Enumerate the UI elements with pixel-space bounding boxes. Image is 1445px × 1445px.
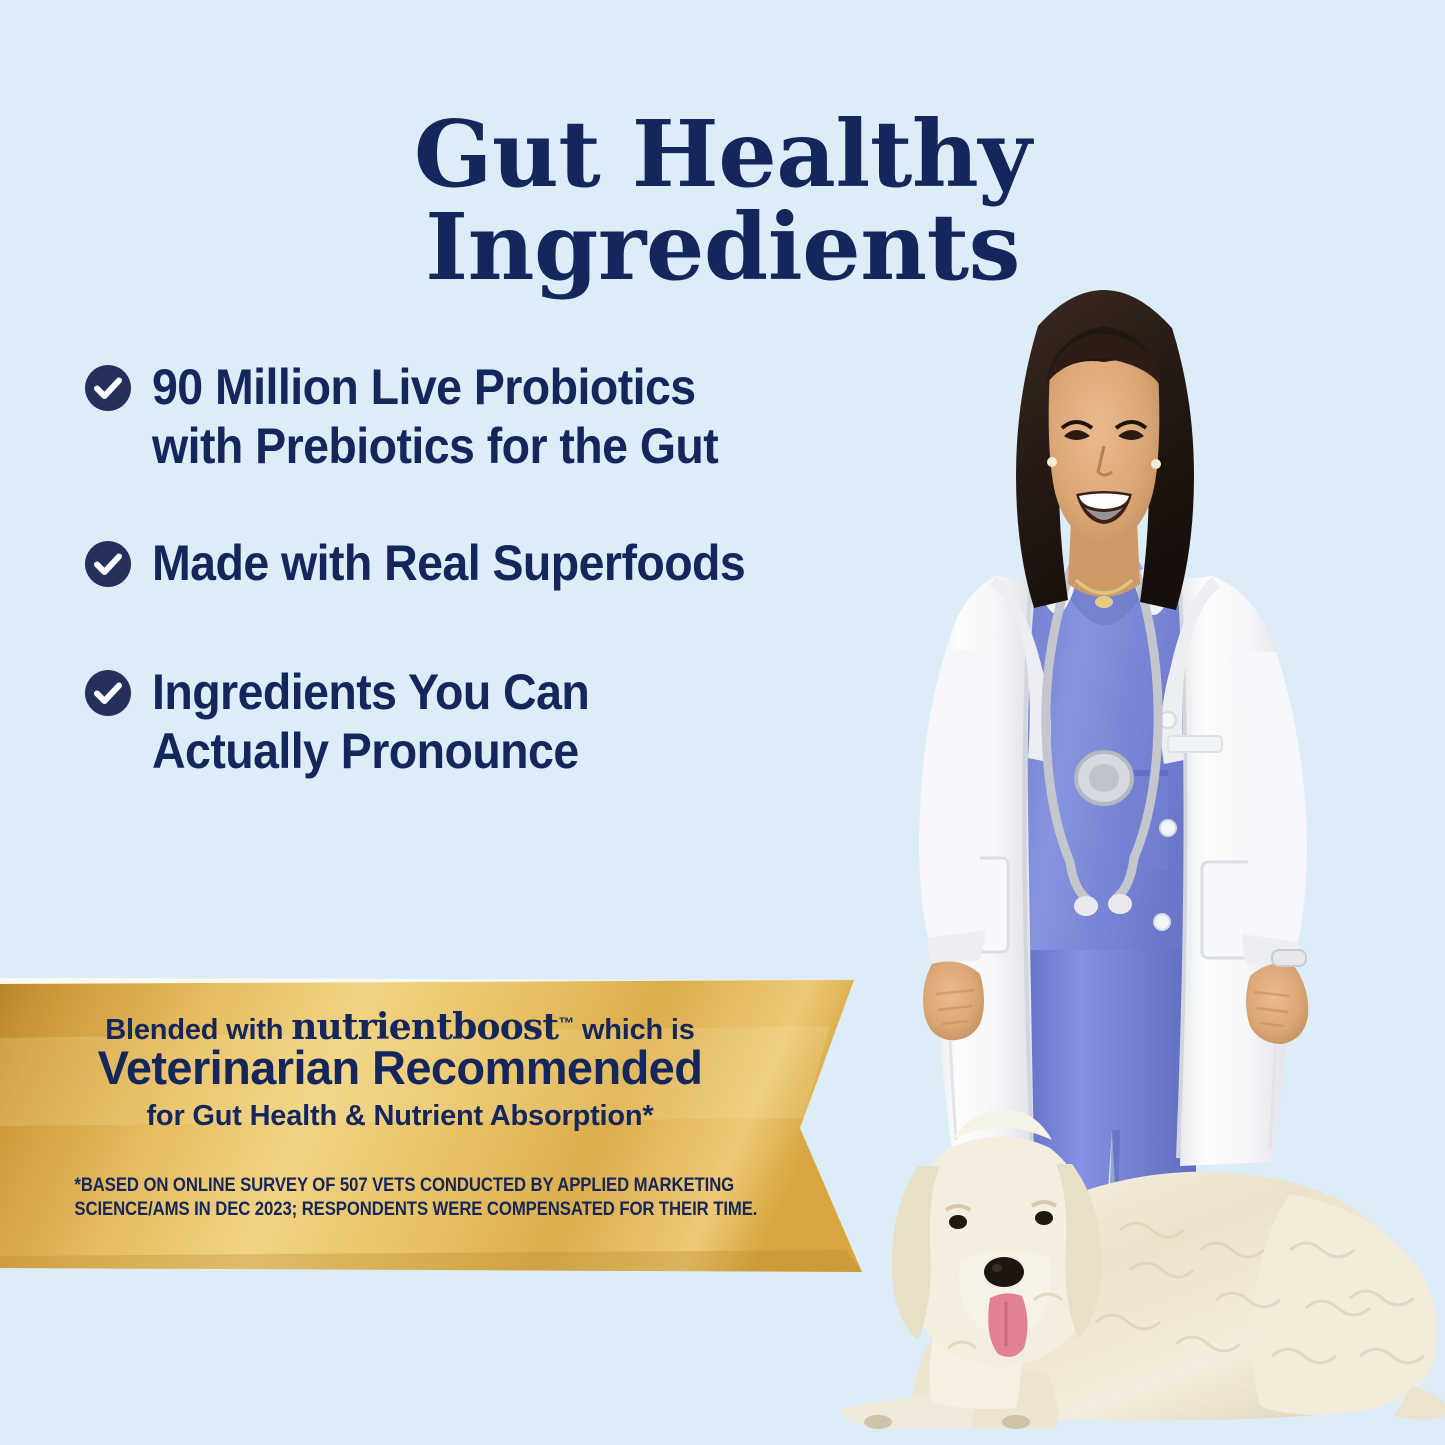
bullet-line: Ingredients You Can [152, 663, 589, 722]
check-circle-icon [84, 540, 132, 588]
trademark-symbol: ™ [558, 1015, 574, 1032]
list-item: Ingredients You Can Actually Pronounce [84, 663, 924, 781]
bullet-line: Actually Pronounce [152, 722, 589, 781]
check-circle-icon [84, 669, 132, 717]
bullet-text: Made with Real Superfoods [152, 534, 745, 593]
banner-disclaimer: *BASED ON ONLINE SURVEY OF 507 VETS COND… [74, 1174, 725, 1222]
headline-line-2: Ingredients [0, 201, 1445, 295]
bullet-line: with Prebiotics for the Gut [152, 417, 718, 476]
bullet-line: 90 Million Live Probiotics [152, 358, 718, 417]
bullet-line: Made with Real Superfoods [152, 534, 745, 593]
feature-bullet-list: 90 Million Live Probiotics with Prebioti… [84, 358, 924, 781]
page-title: Gut Healthy Ingredients [0, 108, 1445, 296]
banner-subline: for Gut Health & Nutrient Absorption* [0, 1100, 800, 1133]
disclaimer-line: SCIENCE/AMS IN DEC 2023; RESPONDENTS WER… [74, 1198, 725, 1222]
check-circle-icon [84, 364, 132, 412]
product-feature-card: Gut Healthy Ingredients 90 Million Live … [0, 0, 1445, 1445]
banner-headline: Veterinarian Recommended [0, 1040, 800, 1095]
disclaimer-line: *BASED ON ONLINE SURVEY OF 507 VETS COND… [74, 1174, 725, 1198]
banner-text-block: Blended with nutrientboost™ which is Vet… [0, 978, 800, 1274]
bullet-text: Ingredients You Can Actually Pronounce [152, 663, 589, 781]
list-item: Made with Real Superfoods [84, 534, 924, 593]
headline-line-1: Gut Healthy [0, 108, 1445, 202]
bullet-text: 90 Million Live Probiotics with Prebioti… [152, 358, 718, 476]
vet-recommended-banner: Blended with nutrientboost™ which is Vet… [0, 978, 872, 1274]
list-item: 90 Million Live Probiotics with Prebioti… [84, 358, 924, 476]
